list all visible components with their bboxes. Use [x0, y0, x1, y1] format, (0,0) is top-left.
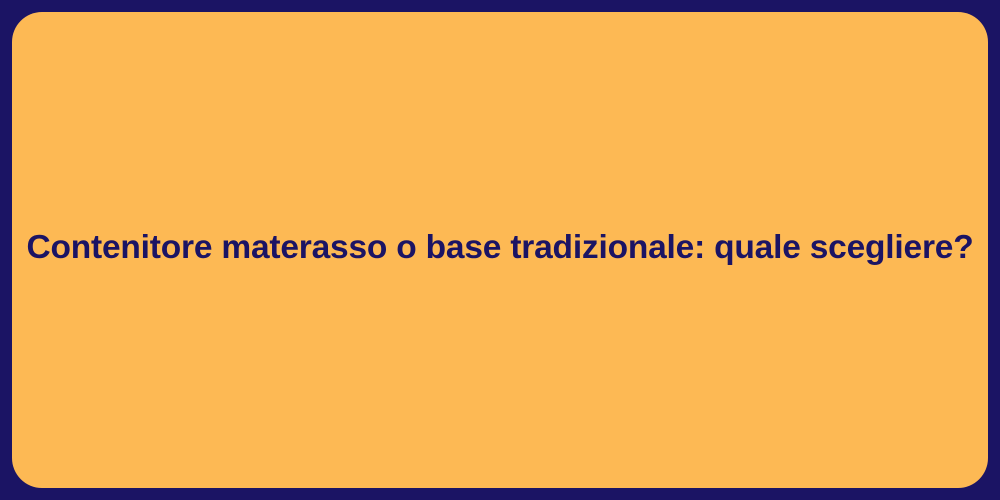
banner-title: Contenitore materasso o base tradizional… — [27, 227, 974, 269]
banner-card: Contenitore materasso o base tradizional… — [12, 12, 988, 488]
banner-frame: Contenitore materasso o base tradizional… — [0, 0, 1000, 500]
